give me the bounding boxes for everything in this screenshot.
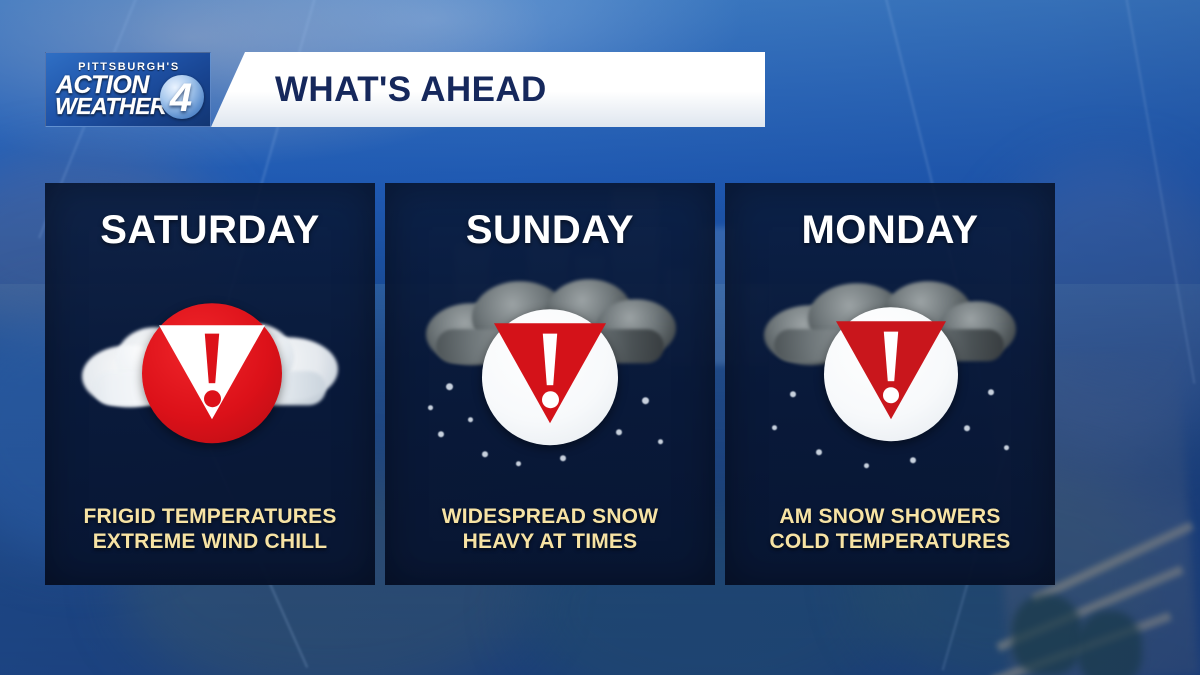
exclamation-dot <box>204 391 221 408</box>
forecast-panel-saturday[interactable]: SATURDAY <box>45 183 375 585</box>
snowflake-icon <box>1004 446 1009 451</box>
exclamation-mark-icon <box>540 334 560 409</box>
snowflake-icon <box>446 384 453 391</box>
weather-icon-area <box>385 253 715 504</box>
snowflake-icon <box>790 392 796 398</box>
day-caption: FRIGID TEMPERATURES EXTREME WIND CHILL <box>45 504 375 585</box>
weather-icon-area <box>45 253 375 504</box>
caption-line-2: EXTREME WIND CHILL <box>55 529 365 555</box>
caption-line-2: COLD TEMPERATURES <box>735 529 1045 555</box>
logo-wordmark: ACTION WEATHER 4 <box>54 75 204 117</box>
exclamation-mark-icon <box>881 332 901 404</box>
day-title: SUNDAY <box>466 208 634 253</box>
day-caption: WIDESPREAD SNOW HEAVY AT TIMES <box>385 504 715 585</box>
day-title: SATURDAY <box>100 208 320 253</box>
caption-line-1: AM SNOW SHOWERS <box>779 505 1000 528</box>
snowflake-icon <box>616 430 622 436</box>
channel-number-badge: 4 <box>158 73 206 125</box>
title-bar: WHAT'S AHEAD <box>211 52 765 127</box>
snowflake-icon <box>772 426 777 431</box>
snowflake-icon <box>988 390 994 396</box>
caption-line-2: HEAVY AT TIMES <box>395 529 705 555</box>
weather-alert-icon <box>142 304 282 444</box>
snowflake-icon <box>482 452 488 458</box>
exclamation-stem <box>881 332 901 382</box>
exclamation-stem <box>540 334 560 386</box>
page-title: WHAT'S AHEAD <box>275 52 547 127</box>
snowflake-icon <box>642 398 649 405</box>
exclamation-mark-icon <box>202 334 222 408</box>
snowflake-icon <box>560 456 566 462</box>
day-title: MONDAY <box>801 208 978 253</box>
alert-sign-with-snow-cloud-icon <box>420 280 680 470</box>
caption-line-1: FRIGID TEMPERATURES <box>83 505 336 528</box>
exclamation-stem <box>202 334 222 384</box>
snowflake-icon <box>864 464 869 469</box>
alert-sign-with-snow-cloud-icon <box>760 280 1020 470</box>
channel-number: 4 <box>170 78 194 120</box>
weather-alert-icon <box>824 308 958 442</box>
snowflake-icon <box>658 440 663 445</box>
exclamation-dot <box>883 388 899 404</box>
caption-line-1: WIDESPREAD SNOW <box>442 505 659 528</box>
weather-graphic: PITTSBURGH'S ACTION WEATHER 4 WHAT'S AHE… <box>0 0 1200 675</box>
snowflake-icon <box>468 418 473 423</box>
snowflake-icon <box>910 458 916 464</box>
snowflake-icon <box>438 432 444 438</box>
day-caption: AM SNOW SHOWERS COLD TEMPERATURES <box>725 504 1055 585</box>
weather-alert-icon <box>482 310 618 446</box>
station-logo[interactable]: PITTSBURGH'S ACTION WEATHER 4 <box>45 52 211 127</box>
snowflake-icon <box>964 426 970 432</box>
forecast-panel-monday[interactable]: MONDAY <box>725 183 1055 585</box>
snowflake-icon <box>816 450 822 456</box>
snowflake-icon <box>516 462 521 467</box>
snowflake-icon <box>428 406 433 411</box>
exclamation-dot <box>542 392 559 409</box>
forecast-panels: SATURDAY <box>45 183 1055 585</box>
weather-icon-area <box>725 253 1055 504</box>
forecast-panel-sunday[interactable]: SUNDAY <box>385 183 715 585</box>
header-banner: PITTSBURGH'S ACTION WEATHER 4 WHAT'S AHE… <box>45 52 765 127</box>
alert-sign-with-cloud-icon <box>80 280 340 470</box>
